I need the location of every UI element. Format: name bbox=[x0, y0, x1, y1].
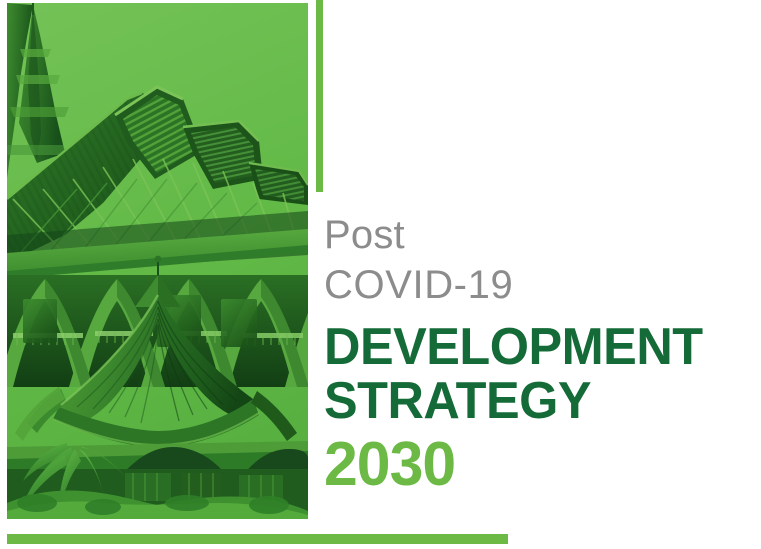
headline-line-strategy: STRATEGY bbox=[324, 373, 731, 430]
headline-year: 2030 bbox=[324, 432, 736, 498]
headline-line-development: DEVELOPMENT bbox=[324, 319, 731, 376]
building-photo bbox=[7, 3, 308, 519]
report-cover: Post COVID-19 DEVELOPMENT STRATEGY 2030 bbox=[0, 0, 761, 549]
vertical-accent-rule bbox=[316, 0, 323, 192]
bottom-accent-bar bbox=[7, 534, 508, 544]
kicker-line-covid19: COVID-19 bbox=[324, 260, 744, 310]
kicker-line-post: Post bbox=[324, 210, 744, 260]
cover-title-block: Post COVID-19 DEVELOPMENT STRATEGY 2030 bbox=[324, 210, 744, 498]
